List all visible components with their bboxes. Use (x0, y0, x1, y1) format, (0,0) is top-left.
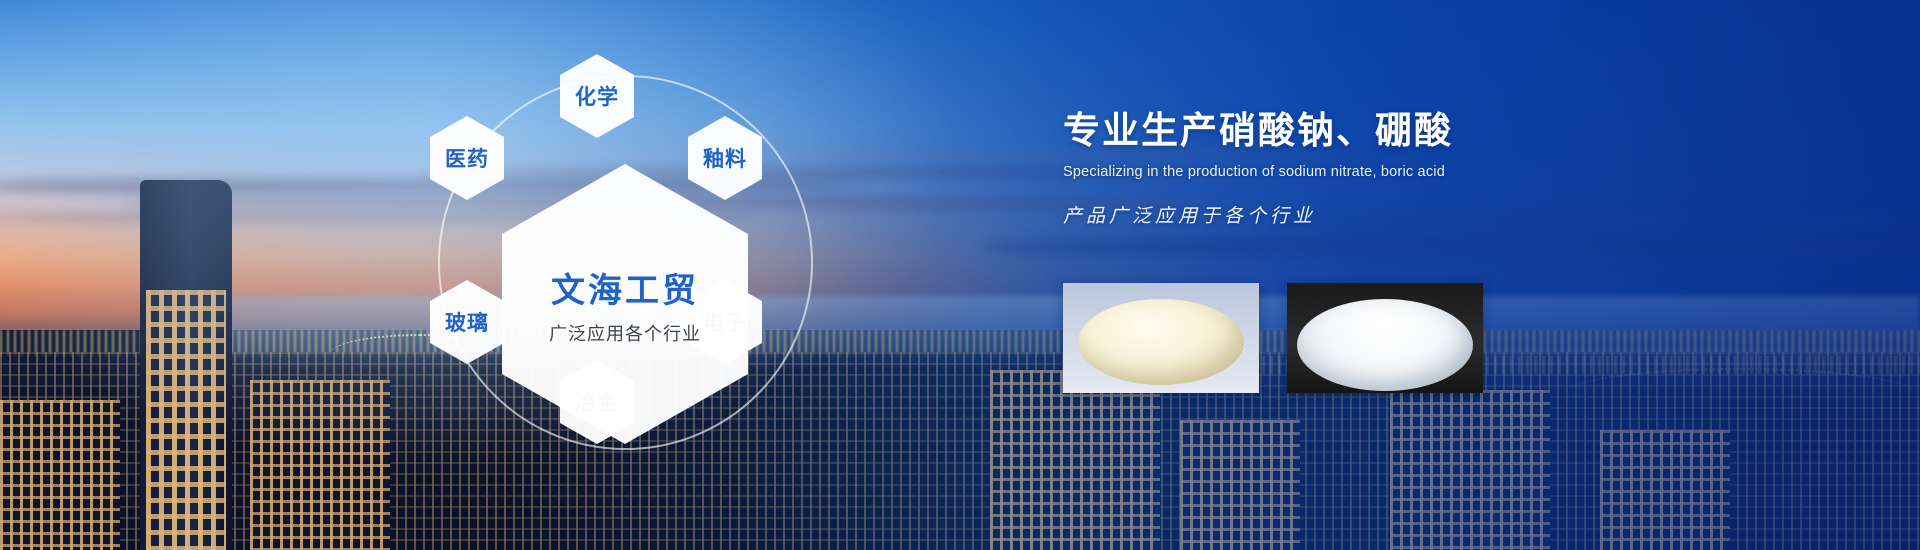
blue-color-overlay (0, 0, 1920, 550)
product-photo-boric-acid[interactable] (1287, 283, 1483, 393)
photo-grain (1063, 283, 1259, 393)
industry-hex-diagram: 化学 釉料 电子 冶金 玻璃 医药 文海工贸 广泛应用各个行业 (420, 20, 940, 520)
hex-label-glass: 玻璃 (445, 307, 489, 337)
product-photo-strip (1063, 283, 1483, 393)
photo-grain (1287, 283, 1483, 393)
hex-label-chemistry: 化学 (575, 81, 619, 111)
product-photo-sodium-nitrate[interactable] (1063, 283, 1259, 393)
promo-banner: 化学 釉料 电子 冶金 玻璃 医药 文海工贸 广泛应用各个行业 专业生产硝酸钠、… (0, 0, 1920, 550)
company-tagline: 广泛应用各个行业 (549, 320, 701, 346)
tagline: 产品广泛应用于各个行业 (1063, 201, 1783, 228)
company-name: 文海工贸 (551, 263, 699, 312)
hex-label-pharmaceutical: 医药 (445, 143, 489, 173)
headline-english: Specializing in the production of sodium… (1063, 164, 1783, 180)
background-photo-city-dusk (0, 0, 1920, 550)
hex-label-glaze: 釉料 (703, 143, 747, 173)
headline: 专业生产硝酸钠、硼酸 (1063, 100, 1783, 154)
marketing-copy: 专业生产硝酸钠、硼酸 Specializing in the productio… (1063, 100, 1783, 228)
